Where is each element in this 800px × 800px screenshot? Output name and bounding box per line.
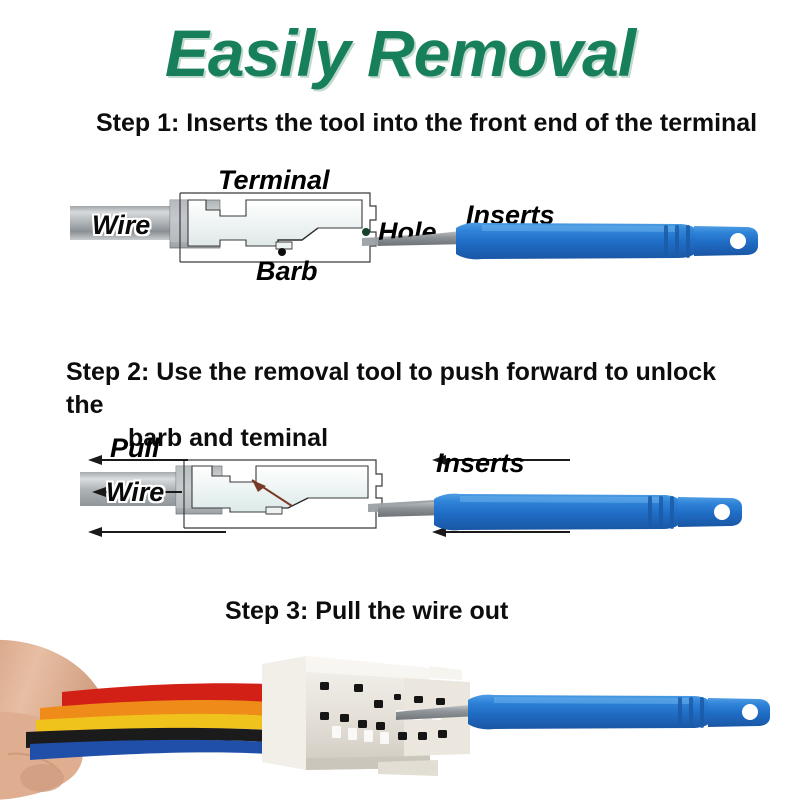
instruction-page: Easily Removal Step 1: Inserts the tool …: [0, 0, 800, 800]
step-1-heading: Step 1: Inserts the tool into the front …: [96, 107, 757, 140]
tool-hanging-hole: [742, 704, 758, 720]
hole-marker-dot: [362, 228, 370, 236]
label-barb: Barb: [256, 256, 318, 287]
label-pull-step2: Pull: [110, 433, 160, 464]
step-2-removal-tool: [378, 487, 770, 535]
step-3-removal-tool: [396, 686, 788, 734]
tool-hanging-hole: [730, 233, 746, 249]
step-2-heading-line-1: Step 2: Use the removal tool to push for…: [66, 358, 716, 419]
label-terminal: Terminal: [218, 165, 330, 196]
label-inserts-step2: Inserts: [436, 448, 525, 479]
page-title: Easily Removal: [0, 16, 800, 90]
label-wire-step1: Wire: [92, 210, 150, 241]
wire-bundle: [26, 683, 268, 760]
tool-hanging-hole: [714, 504, 730, 520]
barb-marker-dot: [278, 248, 286, 256]
label-wire-step2: Wire: [106, 477, 164, 508]
step-1-removal-tool: [378, 218, 770, 266]
